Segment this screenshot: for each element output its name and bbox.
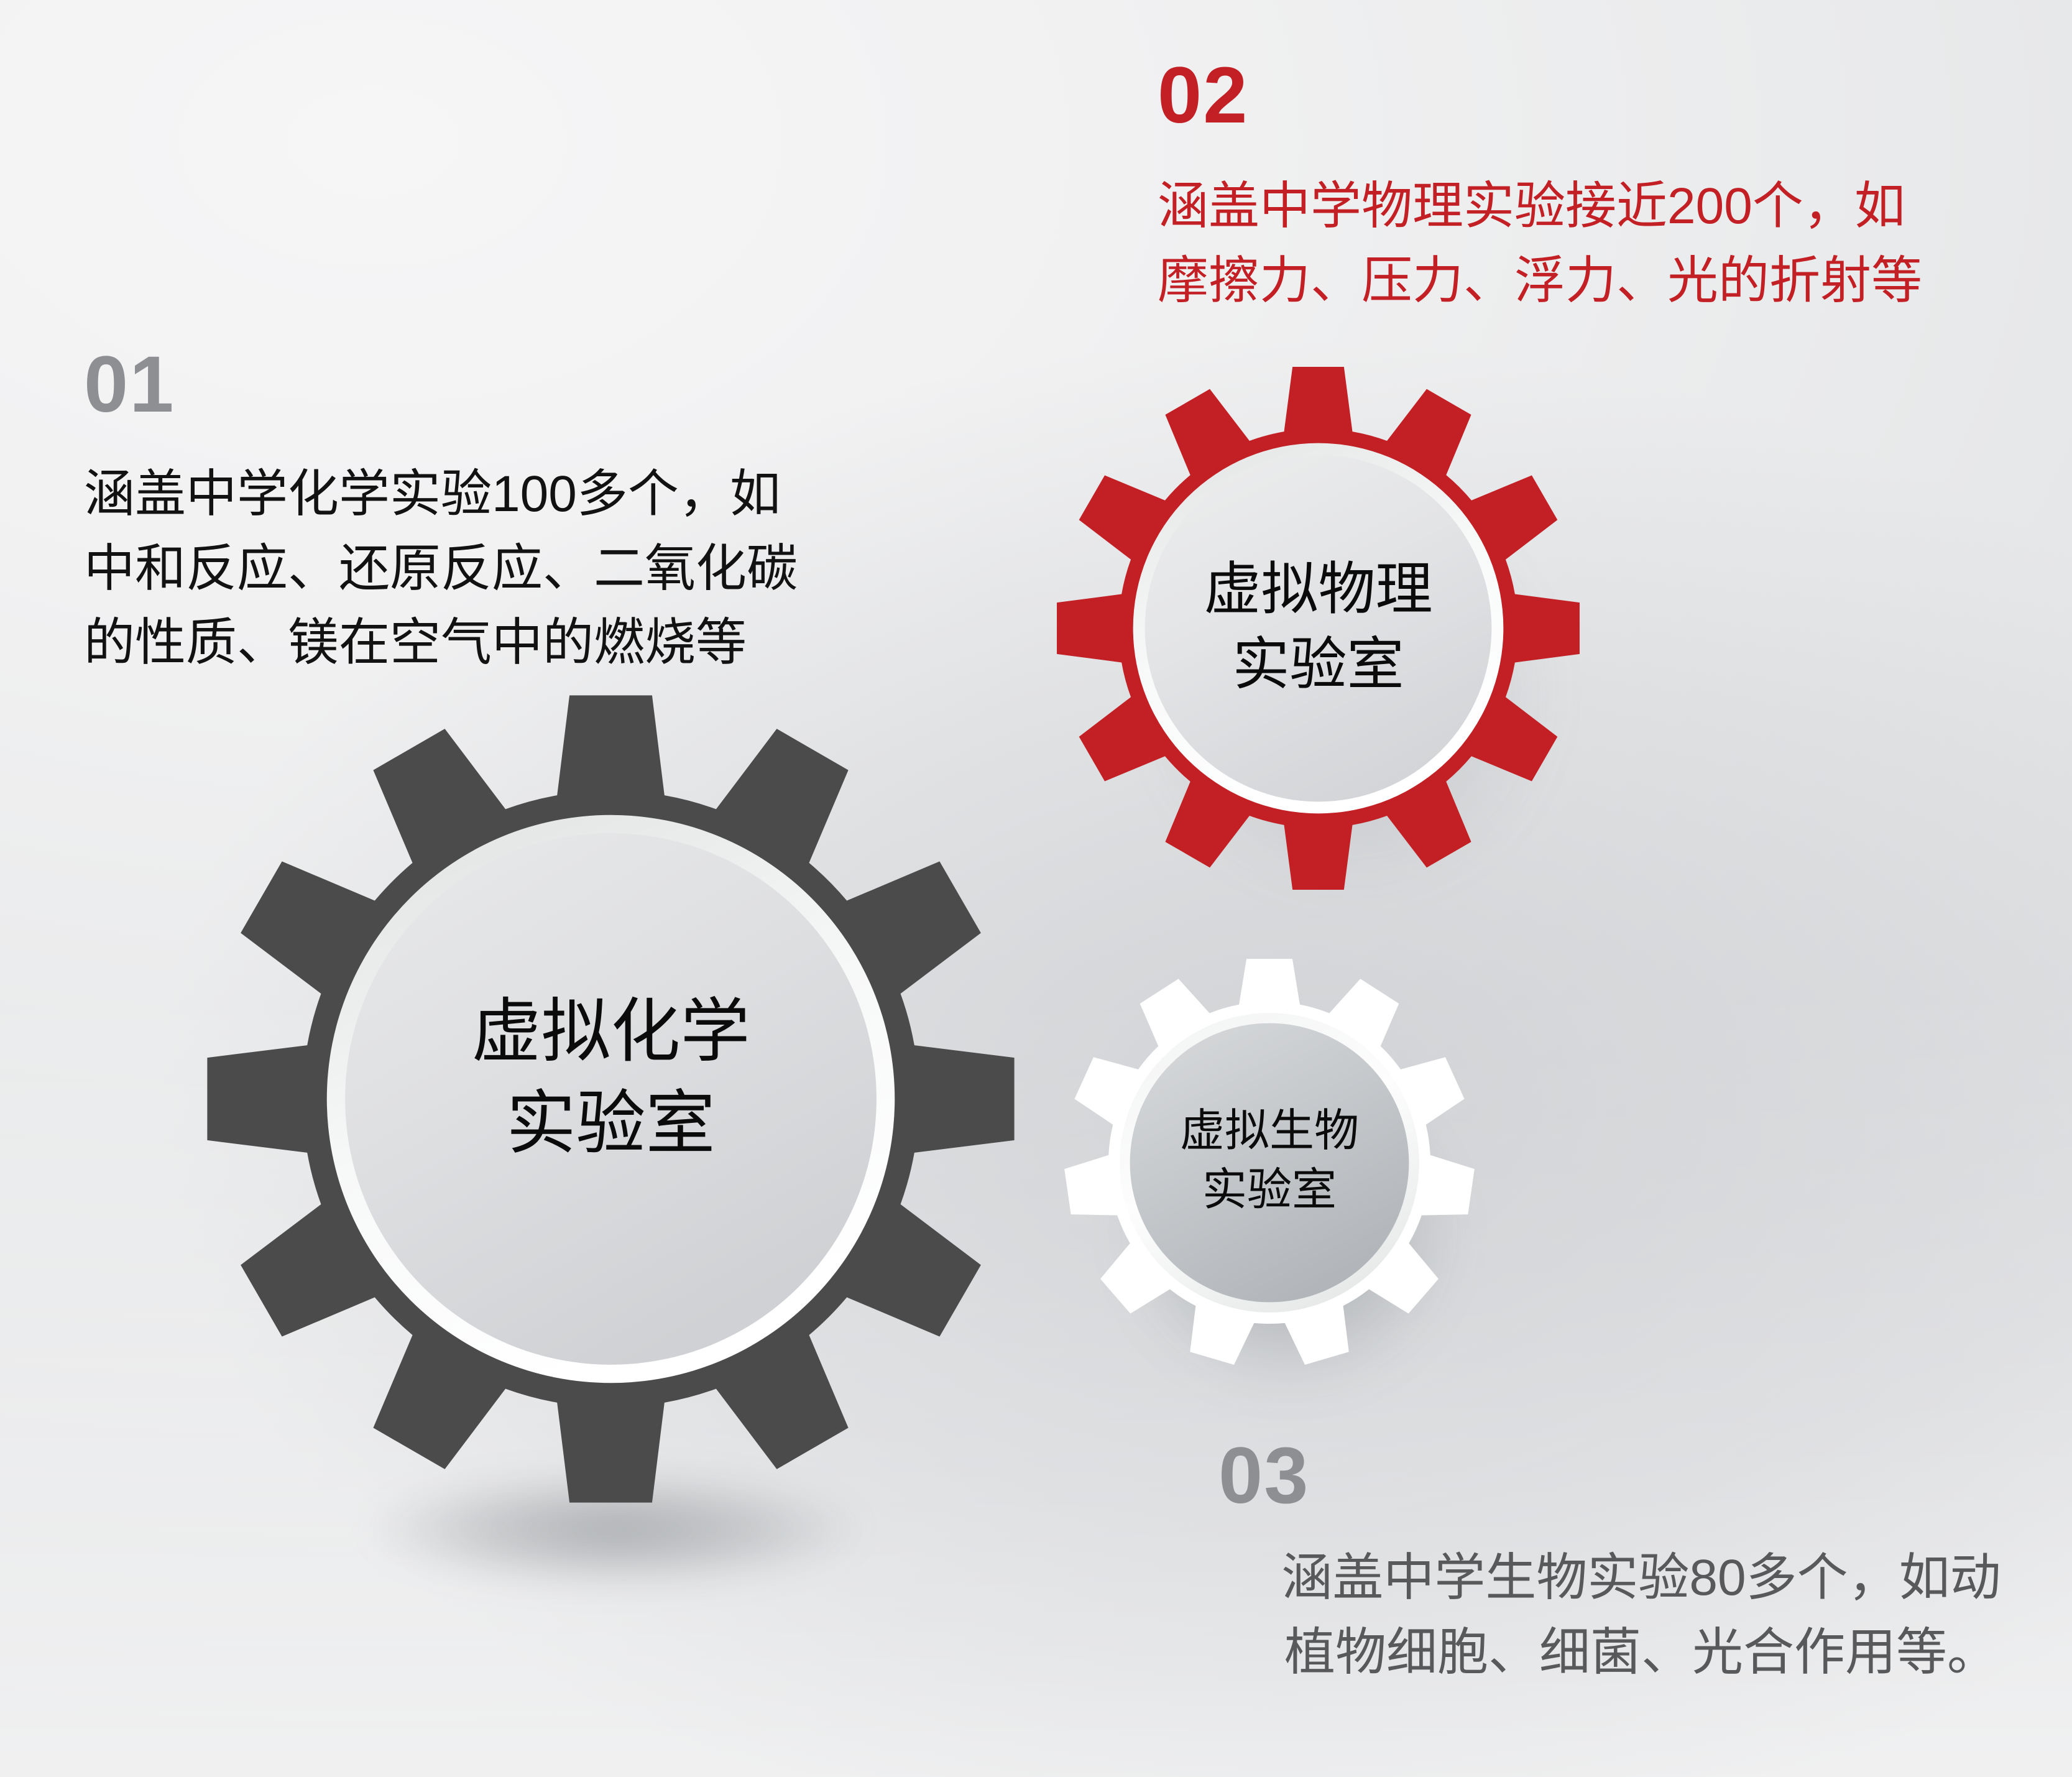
gear-physics[interactable]: 虚拟物理 实验室 (1056, 366, 1581, 891)
info-block-03: 03 涵盖中学生物实验80多个，如动 植物细胞、细菌、光合作用等。 (1218, 1436, 2064, 1689)
block-02-description: 涵盖中学物理实验接近200个，如 摩擦力、压力、浮力、光的折射等 (1158, 169, 2040, 318)
gear-chemistry[interactable]: 虚拟化学 实验室 (205, 693, 1016, 1505)
info-block-02: 02 涵盖中学物理实验接近200个，如 摩擦力、压力、浮力、光的折射等 (1158, 56, 2040, 318)
gear-biology[interactable]: 虚拟生物 实验室 (1064, 958, 1475, 1368)
infographic-canvas: 01 涵盖中学化学实验100多个，如 中和反应、还原反应、二氧化碳 的性质、镁在… (0, 0, 2072, 1777)
block-03-number: 03 (1218, 1436, 2064, 1516)
gear-chemistry-shape (205, 693, 1016, 1505)
gear-chemistry-hub (345, 833, 877, 1365)
block-03-description: 涵盖中学生物实验80多个，如动 植物细胞、细菌、光合作用等。 (1218, 1541, 2064, 1689)
gear-biology-hub (1130, 1023, 1409, 1303)
info-block-01: 01 涵盖中学化学实验100多个，如 中和反应、还原反应、二氧化碳 的性质、镁在… (84, 345, 917, 680)
gear-biology-shape (1064, 958, 1475, 1368)
block-02-number: 02 (1158, 56, 2040, 136)
gear-physics-shape (1056, 366, 1581, 891)
block-01-number: 01 (84, 345, 917, 425)
block-01-description: 涵盖中学化学实验100多个，如 中和反应、还原反应、二氧化碳 的性质、镁在空气中… (84, 457, 917, 680)
gear-physics-hub (1145, 455, 1492, 802)
